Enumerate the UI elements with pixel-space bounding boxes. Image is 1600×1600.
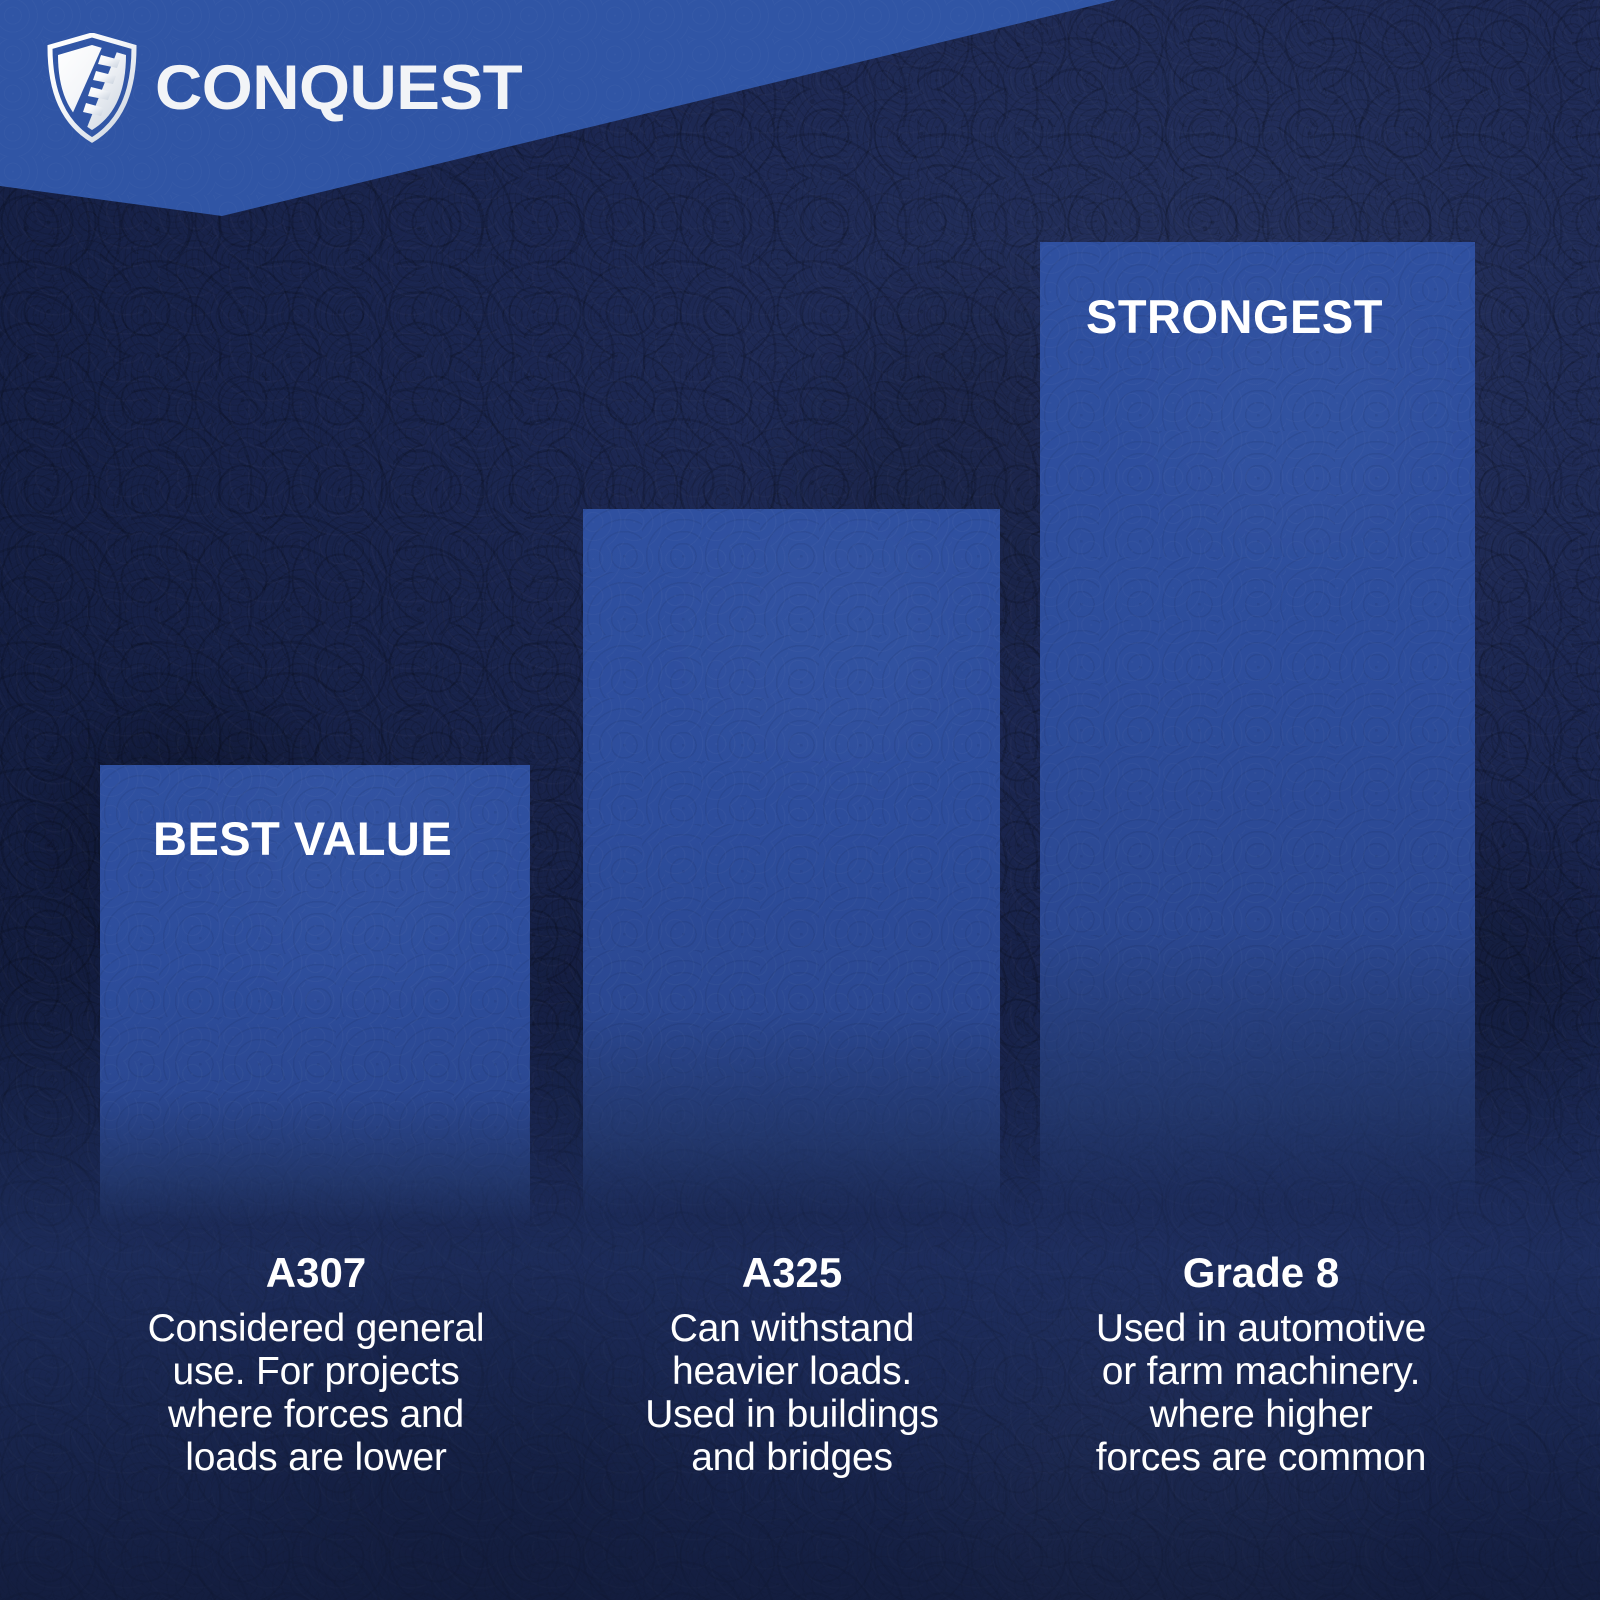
bar-grade8 — [1040, 242, 1475, 1245]
caption-line: Used in buildings — [572, 1394, 1012, 1437]
bar-texture — [1040, 242, 1475, 1245]
bar-a325 — [583, 509, 1000, 1245]
caption-line: where forces and — [96, 1394, 536, 1437]
caption-body: Can withstand heavier loads. Used in bui… — [572, 1308, 1012, 1480]
caption-grade8: Grade 8 Used in automotive or farm machi… — [1036, 1252, 1486, 1480]
badge-strongest: STRONGEST — [1086, 293, 1383, 340]
caption-line: or farm machinery. — [1036, 1351, 1486, 1394]
caption-line: forces are common — [1036, 1437, 1486, 1480]
caption-body: Considered general use. For projects whe… — [96, 1308, 536, 1480]
caption-line: Used in automotive — [1036, 1308, 1486, 1351]
infographic-canvas: BEST VALUE STRONGEST — [0, 0, 1600, 1600]
caption-a325: A325 Can withstand heavier loads. Used i… — [572, 1252, 1012, 1480]
brand-wordmark: CONQUEST — [155, 57, 522, 120]
brand-logo[interactable]: CONQUEST — [46, 33, 508, 143]
caption-line: use. For projects — [96, 1351, 536, 1394]
caption-body: Used in automotive or farm machinery. wh… — [1036, 1308, 1486, 1480]
caption-title: Grade 8 — [1036, 1252, 1486, 1294]
caption-title: A325 — [572, 1252, 1012, 1294]
badge-best-value: BEST VALUE — [153, 815, 452, 862]
caption-a307: A307 Considered general use. For project… — [96, 1252, 536, 1480]
caption-title: A307 — [96, 1252, 536, 1294]
caption-line: and bridges — [572, 1437, 1012, 1480]
bar-texture — [583, 509, 1000, 1245]
caption-line: heavier loads. — [572, 1351, 1012, 1394]
shield-bolt-icon — [46, 33, 138, 143]
caption-line: Considered general — [96, 1308, 536, 1351]
caption-line: Can withstand — [572, 1308, 1012, 1351]
caption-line: where higher — [1036, 1394, 1486, 1437]
caption-line: loads are lower — [96, 1437, 536, 1480]
